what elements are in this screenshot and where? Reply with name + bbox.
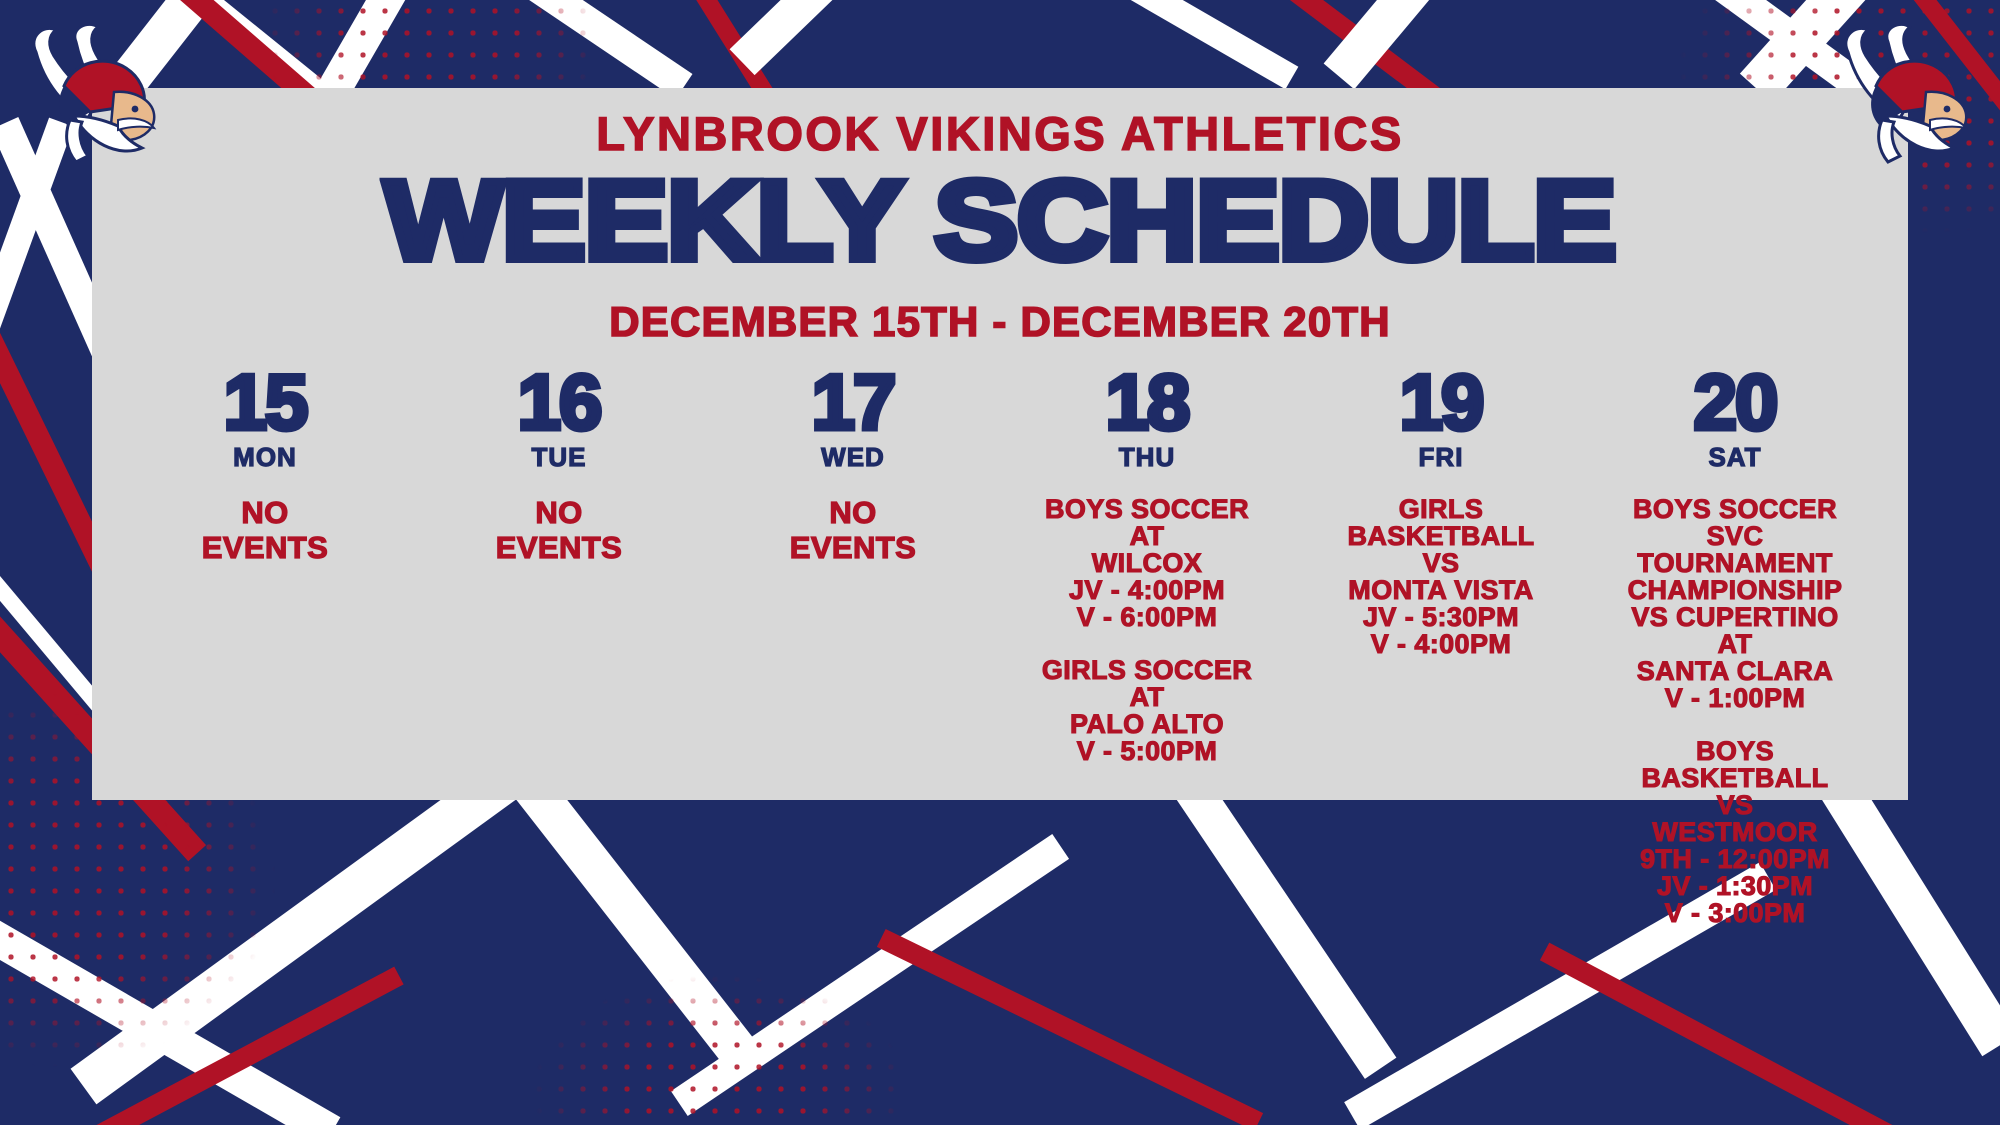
day-column-thu: 18THUBOYS SOCCERATWILCOXJV - 4:00PMV - 6… bbox=[1000, 367, 1294, 766]
event-line: JV - 5:30PM bbox=[1298, 604, 1584, 631]
event-entry: BOYS SOCCERSVCTOURNAMENTCHAMPIONSHIPVS C… bbox=[1592, 496, 1878, 712]
event-line: MONTA VISTA bbox=[1298, 577, 1584, 604]
day-column-wed: 17WEDNOEVENTS bbox=[706, 367, 1000, 566]
day-abbreviation: FRI bbox=[1298, 444, 1584, 470]
day-abbreviation: TUE bbox=[416, 444, 702, 470]
day-number: 18 bbox=[1004, 367, 1290, 439]
event-entry: GIRLSBASKETBALLVSMONTA VISTAJV - 5:30PMV… bbox=[1298, 496, 1584, 658]
viking-mascot-logo bbox=[18, 16, 168, 166]
event-line: WILCOX bbox=[1004, 550, 1290, 577]
event-line: V - 3:00PM bbox=[1592, 900, 1878, 927]
day-events: GIRLSBASKETBALLVSMONTA VISTAJV - 5:30PMV… bbox=[1298, 496, 1584, 658]
day-abbreviation: MON bbox=[122, 444, 408, 470]
day-number: 19 bbox=[1298, 367, 1584, 439]
event-entry: BOYS SOCCERATWILCOXJV - 4:00PMV - 6:00PM bbox=[1004, 496, 1290, 631]
event-line: NO bbox=[416, 496, 702, 531]
event-line: GIRLS bbox=[1298, 496, 1584, 523]
event-line: V - 5:00PM bbox=[1004, 738, 1290, 765]
event-line: JV - 4:00PM bbox=[1004, 577, 1290, 604]
day-column-tue: 16TUENOEVENTS bbox=[412, 367, 706, 566]
event-line: BOYS SOCCER bbox=[1592, 496, 1878, 523]
day-column-fri: 19FRIGIRLSBASKETBALLVSMONTA VISTAJV - 5:… bbox=[1294, 367, 1588, 659]
schedule-graphic: LYNBROOK VIKINGS ATHLETICS WEEKLY SCHEDU… bbox=[0, 0, 2000, 1125]
viking-mascot-logo bbox=[1830, 16, 1980, 166]
day-events: NOEVENTS bbox=[710, 496, 996, 565]
day-number: 15 bbox=[122, 367, 408, 439]
day-number: 16 bbox=[416, 367, 702, 439]
page-kicker: LYNBROOK VIKINGS ATHLETICS bbox=[92, 110, 1908, 157]
event-line: SANTA CLARA bbox=[1592, 658, 1878, 685]
no-events-message: NOEVENTS bbox=[416, 496, 702, 565]
event-line: VS bbox=[1298, 550, 1584, 577]
event-line: BASKETBALL bbox=[1298, 523, 1584, 550]
event-line: AT bbox=[1004, 523, 1290, 550]
week-grid: 15MONNOEVENTS16TUENOEVENTS17WEDNOEVENTS1… bbox=[118, 367, 1882, 928]
day-events: NOEVENTS bbox=[416, 496, 702, 565]
event-line: EVENTS bbox=[710, 531, 996, 566]
event-line: V - 4:00PM bbox=[1298, 631, 1584, 658]
event-line: V - 6:00PM bbox=[1004, 604, 1290, 631]
event-line: BASKETBALL bbox=[1592, 765, 1878, 792]
date-range: DECEMBER 15TH - DECEMBER 20TH bbox=[92, 301, 1908, 343]
event-line: 9TH - 12:00PM bbox=[1592, 846, 1878, 873]
day-abbreviation: THU bbox=[1004, 444, 1290, 470]
page-title: WEEKLY SCHEDULE bbox=[0, 167, 2000, 275]
event-line: V - 1:00PM bbox=[1592, 685, 1878, 712]
day-abbreviation: WED bbox=[710, 444, 996, 470]
event-line: EVENTS bbox=[416, 531, 702, 566]
event-entry: GIRLS SOCCERATPALO ALTOV - 5:00PM bbox=[1004, 657, 1290, 765]
event-line: WESTMOOR bbox=[1592, 819, 1878, 846]
no-events-message: NOEVENTS bbox=[122, 496, 408, 565]
day-events: BOYS SOCCERSVCTOURNAMENTCHAMPIONSHIPVS C… bbox=[1592, 496, 1878, 927]
event-line: EVENTS bbox=[122, 531, 408, 566]
event-line: JV - 1:30PM bbox=[1592, 873, 1878, 900]
event-line: VS CUPERTINO bbox=[1592, 604, 1878, 631]
event-line: SVC bbox=[1592, 523, 1878, 550]
event-line: BOYS SOCCER bbox=[1004, 496, 1290, 523]
schedule-card: LYNBROOK VIKINGS ATHLETICS WEEKLY SCHEDU… bbox=[92, 88, 1908, 800]
day-events: NOEVENTS bbox=[122, 496, 408, 565]
event-line: CHAMPIONSHIP bbox=[1592, 577, 1878, 604]
event-line: NO bbox=[122, 496, 408, 531]
event-line: VS bbox=[1592, 792, 1878, 819]
event-line: BOYS bbox=[1592, 738, 1878, 765]
event-line: AT bbox=[1592, 631, 1878, 658]
event-line: PALO ALTO bbox=[1004, 711, 1290, 738]
event-entry: BOYSBASKETBALLVSWESTMOOR9TH - 12:00PMJV … bbox=[1592, 738, 1878, 927]
event-line: TOURNAMENT bbox=[1592, 550, 1878, 577]
event-line: NO bbox=[710, 496, 996, 531]
day-number: 20 bbox=[1592, 367, 1878, 439]
no-events-message: NOEVENTS bbox=[710, 496, 996, 565]
day-column-sat: 20SATBOYS SOCCERSVCTOURNAMENTCHAMPIONSHI… bbox=[1588, 367, 1882, 928]
day-events: BOYS SOCCERATWILCOXJV - 4:00PMV - 6:00PM… bbox=[1004, 496, 1290, 765]
day-abbreviation: SAT bbox=[1592, 444, 1878, 470]
event-line: GIRLS SOCCER bbox=[1004, 657, 1290, 684]
day-column-mon: 15MONNOEVENTS bbox=[118, 367, 412, 566]
event-line: AT bbox=[1004, 684, 1290, 711]
day-number: 17 bbox=[710, 367, 996, 439]
